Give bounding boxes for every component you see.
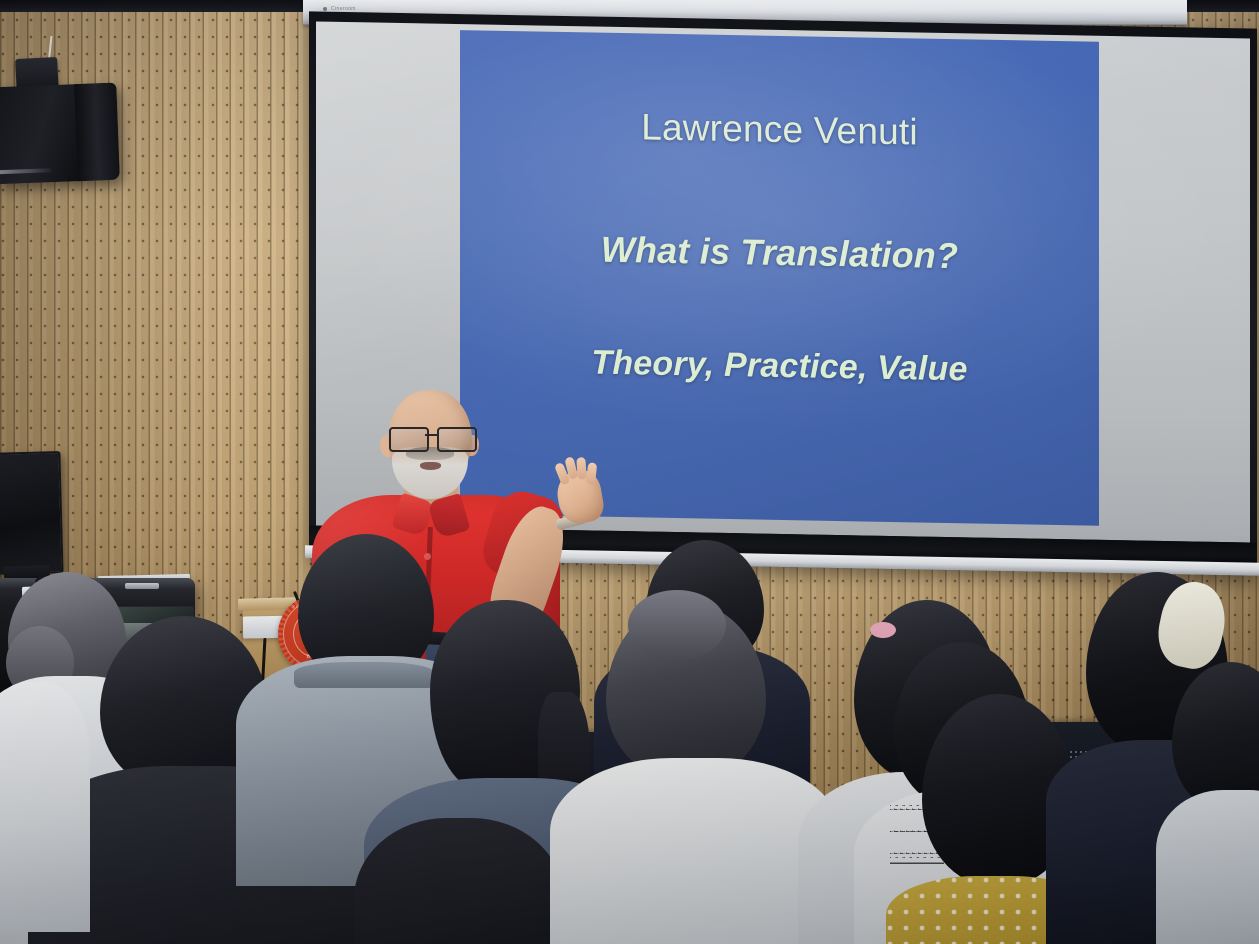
wall-speaker xyxy=(0,83,120,185)
audience-member-edge-left xyxy=(0,622,70,922)
hair-tie-icon xyxy=(870,622,896,638)
speaker-brand-strip xyxy=(0,168,51,174)
audience xyxy=(0,544,1259,944)
audience-torso xyxy=(550,758,840,944)
glasses-lens-left xyxy=(389,427,429,452)
audience-hair-bun xyxy=(628,590,726,660)
lecture-hall-photo: Cineroom Lawrence Venuti What is Transla… xyxy=(0,0,1259,944)
presenter-mouth xyxy=(420,462,441,470)
glasses-lens-right xyxy=(437,427,477,452)
presenter-finger xyxy=(576,457,587,480)
audience-torso xyxy=(0,682,90,932)
audience-member-woman-far-right xyxy=(1166,662,1259,944)
glasses-bridge xyxy=(425,434,437,436)
audience-torso xyxy=(1156,790,1259,944)
case-indicator-icon xyxy=(323,7,327,11)
presenter-glasses xyxy=(388,427,474,449)
audience-member-woman-bun-white-shirt xyxy=(566,602,816,942)
slide-title: What is Translation? xyxy=(460,227,1099,278)
slide-presenter-name: Lawrence Venuti xyxy=(460,104,1099,156)
presenter-finger xyxy=(586,462,597,485)
